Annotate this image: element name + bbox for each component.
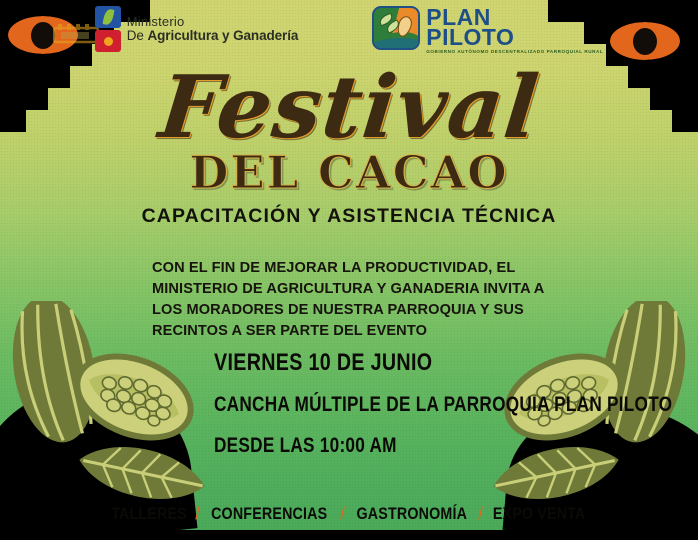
headline-block: Festival DEL CACAO CAPACITACIÓN Y ASISTE…	[0, 66, 698, 228]
event-time: DESDE LAS 10:00 AM	[214, 434, 672, 458]
plan-piloto-wordmark: PLAN PILOTO GOBIERNO AUTÓNOMO DESCENTRAL…	[426, 6, 603, 54]
banner-item: GASTRONOMÍA	[356, 504, 467, 524]
plan-piloto-logo: PLAN PILOTO GOBIERNO AUTÓNOMO DESCENTRAL…	[372, 6, 603, 54]
logo-row: Ministerio De Agricultura y Ganadería PL…	[0, 6, 698, 64]
ministerio-logo: Ministerio De Agricultura y Ganadería	[95, 6, 298, 52]
banner-item: EXPO VENTA	[493, 504, 586, 524]
ministerio-line1: Ministerio	[127, 15, 298, 29]
plan-piloto-badge-icon	[372, 6, 420, 50]
ministerio-line2-bold: Agricultura y Ganadería	[148, 28, 299, 43]
banner-separator: /	[194, 504, 201, 524]
body-paragraph: CON EL FIN DE MEJORAR LA PRODUCTIVIDAD, …	[152, 258, 572, 343]
ministerio-line2-prefix: De	[127, 28, 148, 43]
event-place: CANCHA MÚLTIPLE DE LA PARROQUIA PLAN PIL…	[214, 393, 672, 417]
poster-canvas: Ministerio De Agricultura y Ganadería PL…	[0, 0, 698, 540]
event-details: VIERNES 10 DE JUNIO CANCHA MÚLTIPLE DE L…	[214, 349, 698, 458]
banner-item: CONFERENCIAS	[212, 504, 328, 524]
black-bottom-strip	[0, 530, 698, 540]
bottom-banner: TALLERES/CONFERENCIAS/GASTRONOMÍA/EXPO V…	[0, 504, 698, 524]
banner-separator: /	[477, 504, 484, 524]
banner-separator: /	[339, 504, 346, 524]
ministerio-watermark-icon	[53, 24, 99, 46]
plan-piloto-tagline: GOBIERNO AUTÓNOMO DESCENTRALIZADO PARROQ…	[426, 50, 603, 54]
festival-script-title: Festival	[155, 66, 542, 150]
tagline-text: CAPACITACIÓN Y ASISTENCIA TÉCNICA	[0, 205, 698, 228]
ministerio-wordmark: Ministerio De Agricultura y Ganadería	[127, 15, 298, 43]
event-date: VIERNES 10 DE JUNIO	[214, 349, 672, 377]
ministerio-mark-icon	[95, 6, 121, 52]
ministerio-line2: De Agricultura y Ganadería	[127, 29, 298, 43]
banner-item: TALLERES	[111, 504, 187, 524]
plan-piloto-word2: PILOTO	[426, 27, 603, 47]
